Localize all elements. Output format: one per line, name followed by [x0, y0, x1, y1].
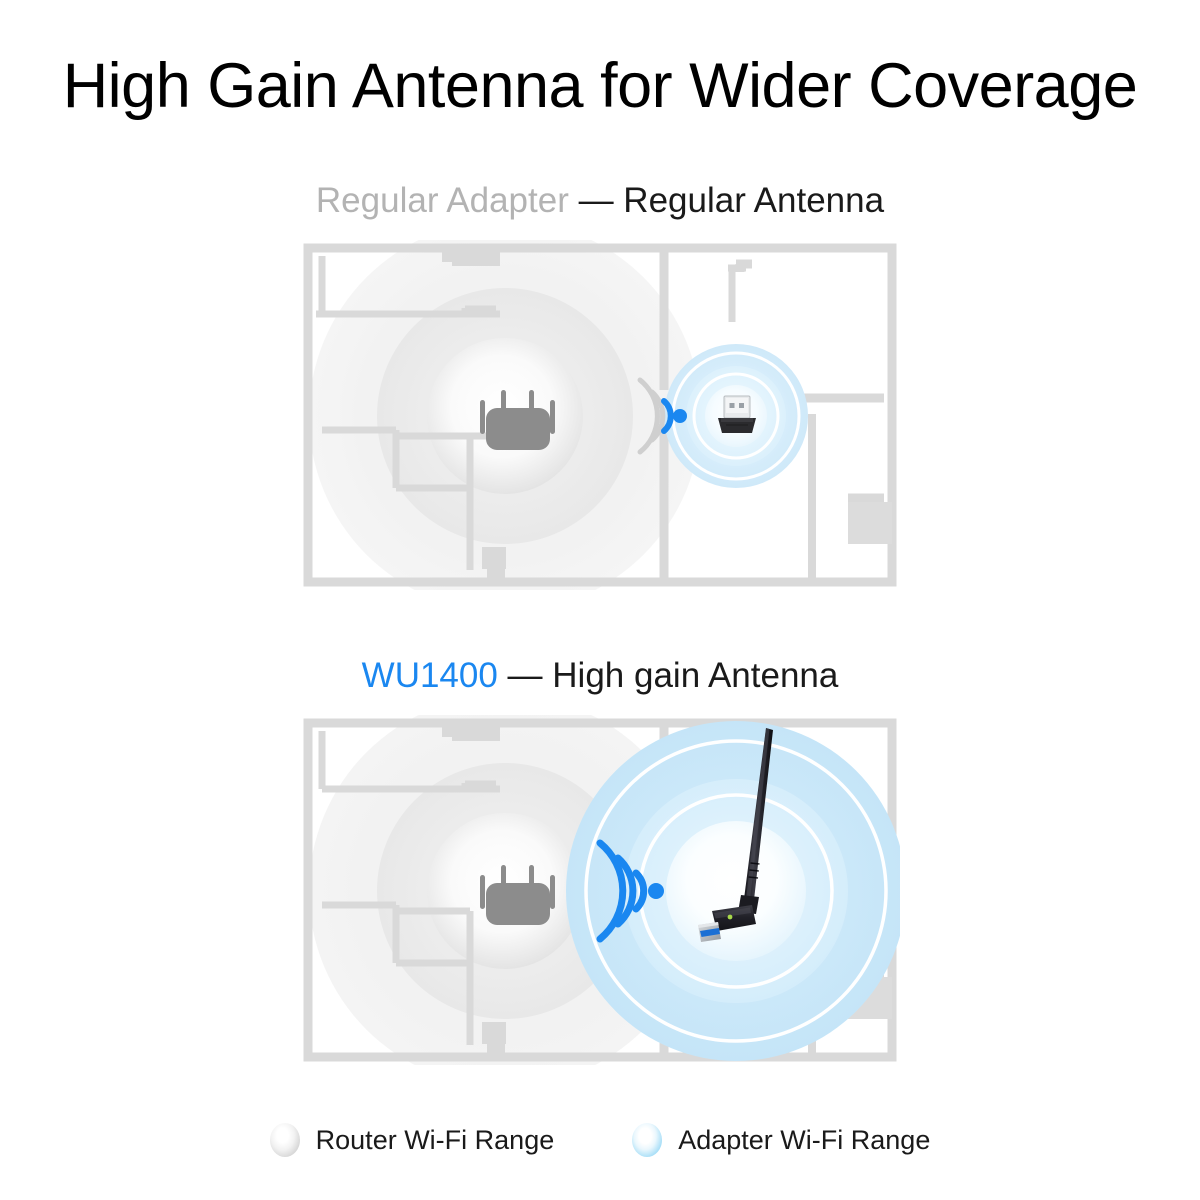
diagram-high-gain-antenna	[300, 715, 900, 1065]
section-caption-regular-antenna-label: — Regular Antenna	[569, 181, 884, 220]
section-caption-wu1400: WU1400 — High gain Antenna	[0, 655, 1200, 697]
section-caption-wu1400-model-label: WU1400	[362, 656, 498, 695]
section-caption-regular-adapter-label: Regular Adapter	[316, 181, 569, 220]
legend-label-adapter-range: Adapter Wi-Fi Range	[678, 1124, 930, 1156]
usb-nano-adapter-icon	[718, 396, 756, 433]
page-title: High Gain Antenna for Wider Coverage	[0, 50, 1200, 122]
adapter-range-rings	[566, 721, 900, 1061]
legend-item-router-range: Router Wi-Fi Range	[270, 1123, 555, 1157]
diagram-regular-adapter	[300, 240, 900, 590]
legend-item-adapter-range: Adapter Wi-Fi Range	[632, 1123, 930, 1157]
legend-label-router-range: Router Wi-Fi Range	[316, 1124, 555, 1156]
adapter-range-swatch-icon	[632, 1123, 662, 1157]
router-range-swatch-icon	[270, 1123, 300, 1157]
section-caption-wu1400-antenna-label: — High gain Antenna	[498, 656, 839, 695]
floor-plan-block	[848, 502, 892, 544]
legend: Router Wi-Fi Range Adapter Wi-Fi Range	[0, 1112, 1200, 1168]
section-caption-regular: Regular Adapter — Regular Antenna	[0, 180, 1200, 222]
